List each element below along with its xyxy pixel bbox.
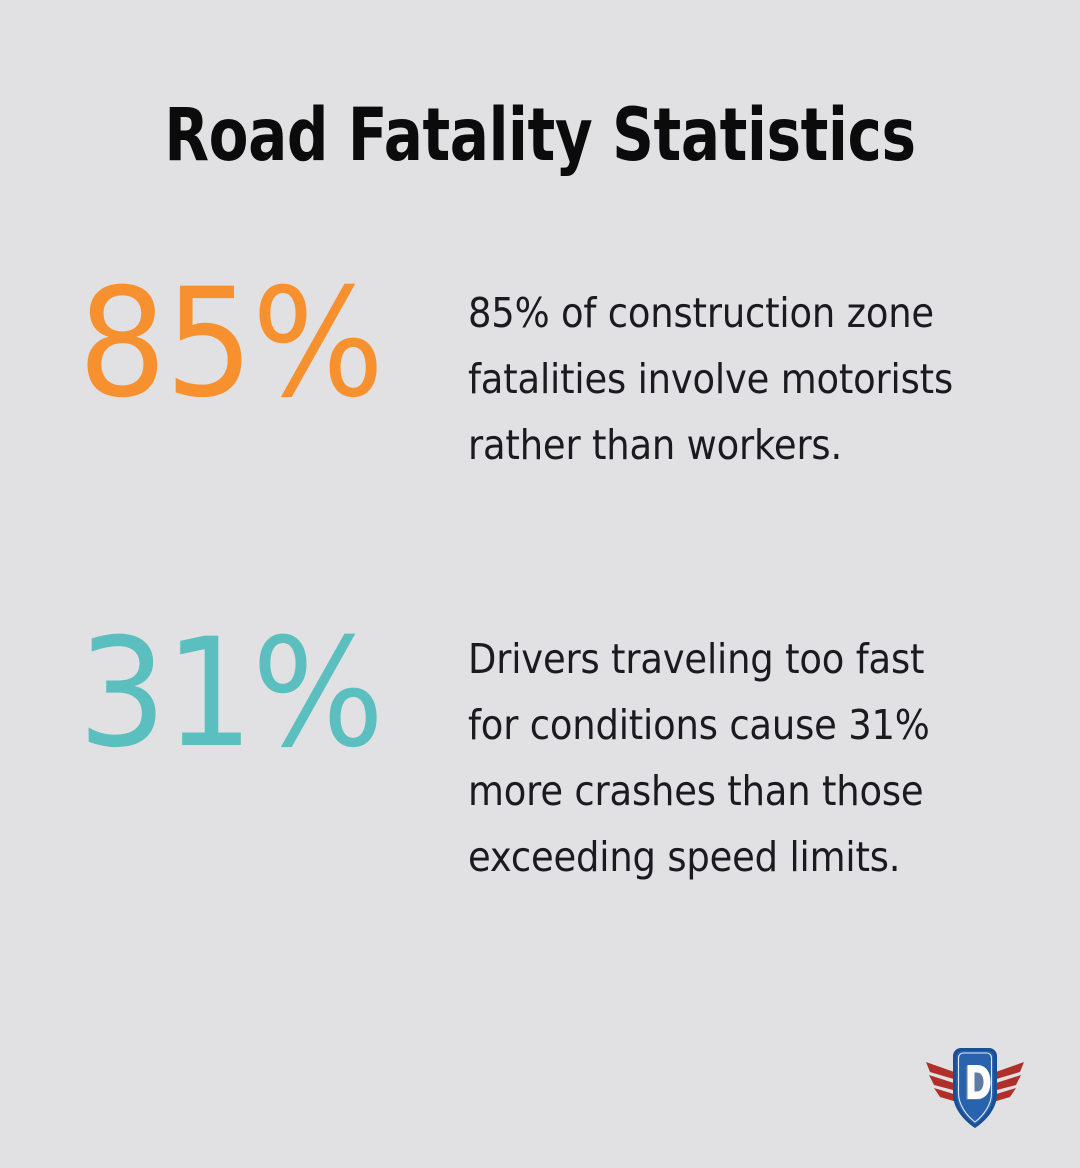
right-wing-icon — [993, 1062, 1024, 1102]
stat-description: Drivers traveling too fast for condition… — [468, 612, 968, 890]
left-wing-icon — [926, 1062, 957, 1102]
shield-wings-logo — [924, 1046, 1026, 1132]
stat-description: 85% of construction zone fatalities invo… — [468, 268, 968, 478]
infographic-canvas: Road Fatality Statistics 85% 85% of cons… — [0, 0, 1080, 1168]
stat-row: 31% Drivers traveling too fast for condi… — [78, 612, 1008, 890]
page-title: Road Fatality Statistics — [111, 92, 970, 180]
stat-figure-percent: 85% — [78, 268, 441, 420]
stat-row: 85% 85% of construction zone fatalities … — [78, 268, 1008, 478]
stat-figure-percent: 31% — [78, 612, 441, 770]
